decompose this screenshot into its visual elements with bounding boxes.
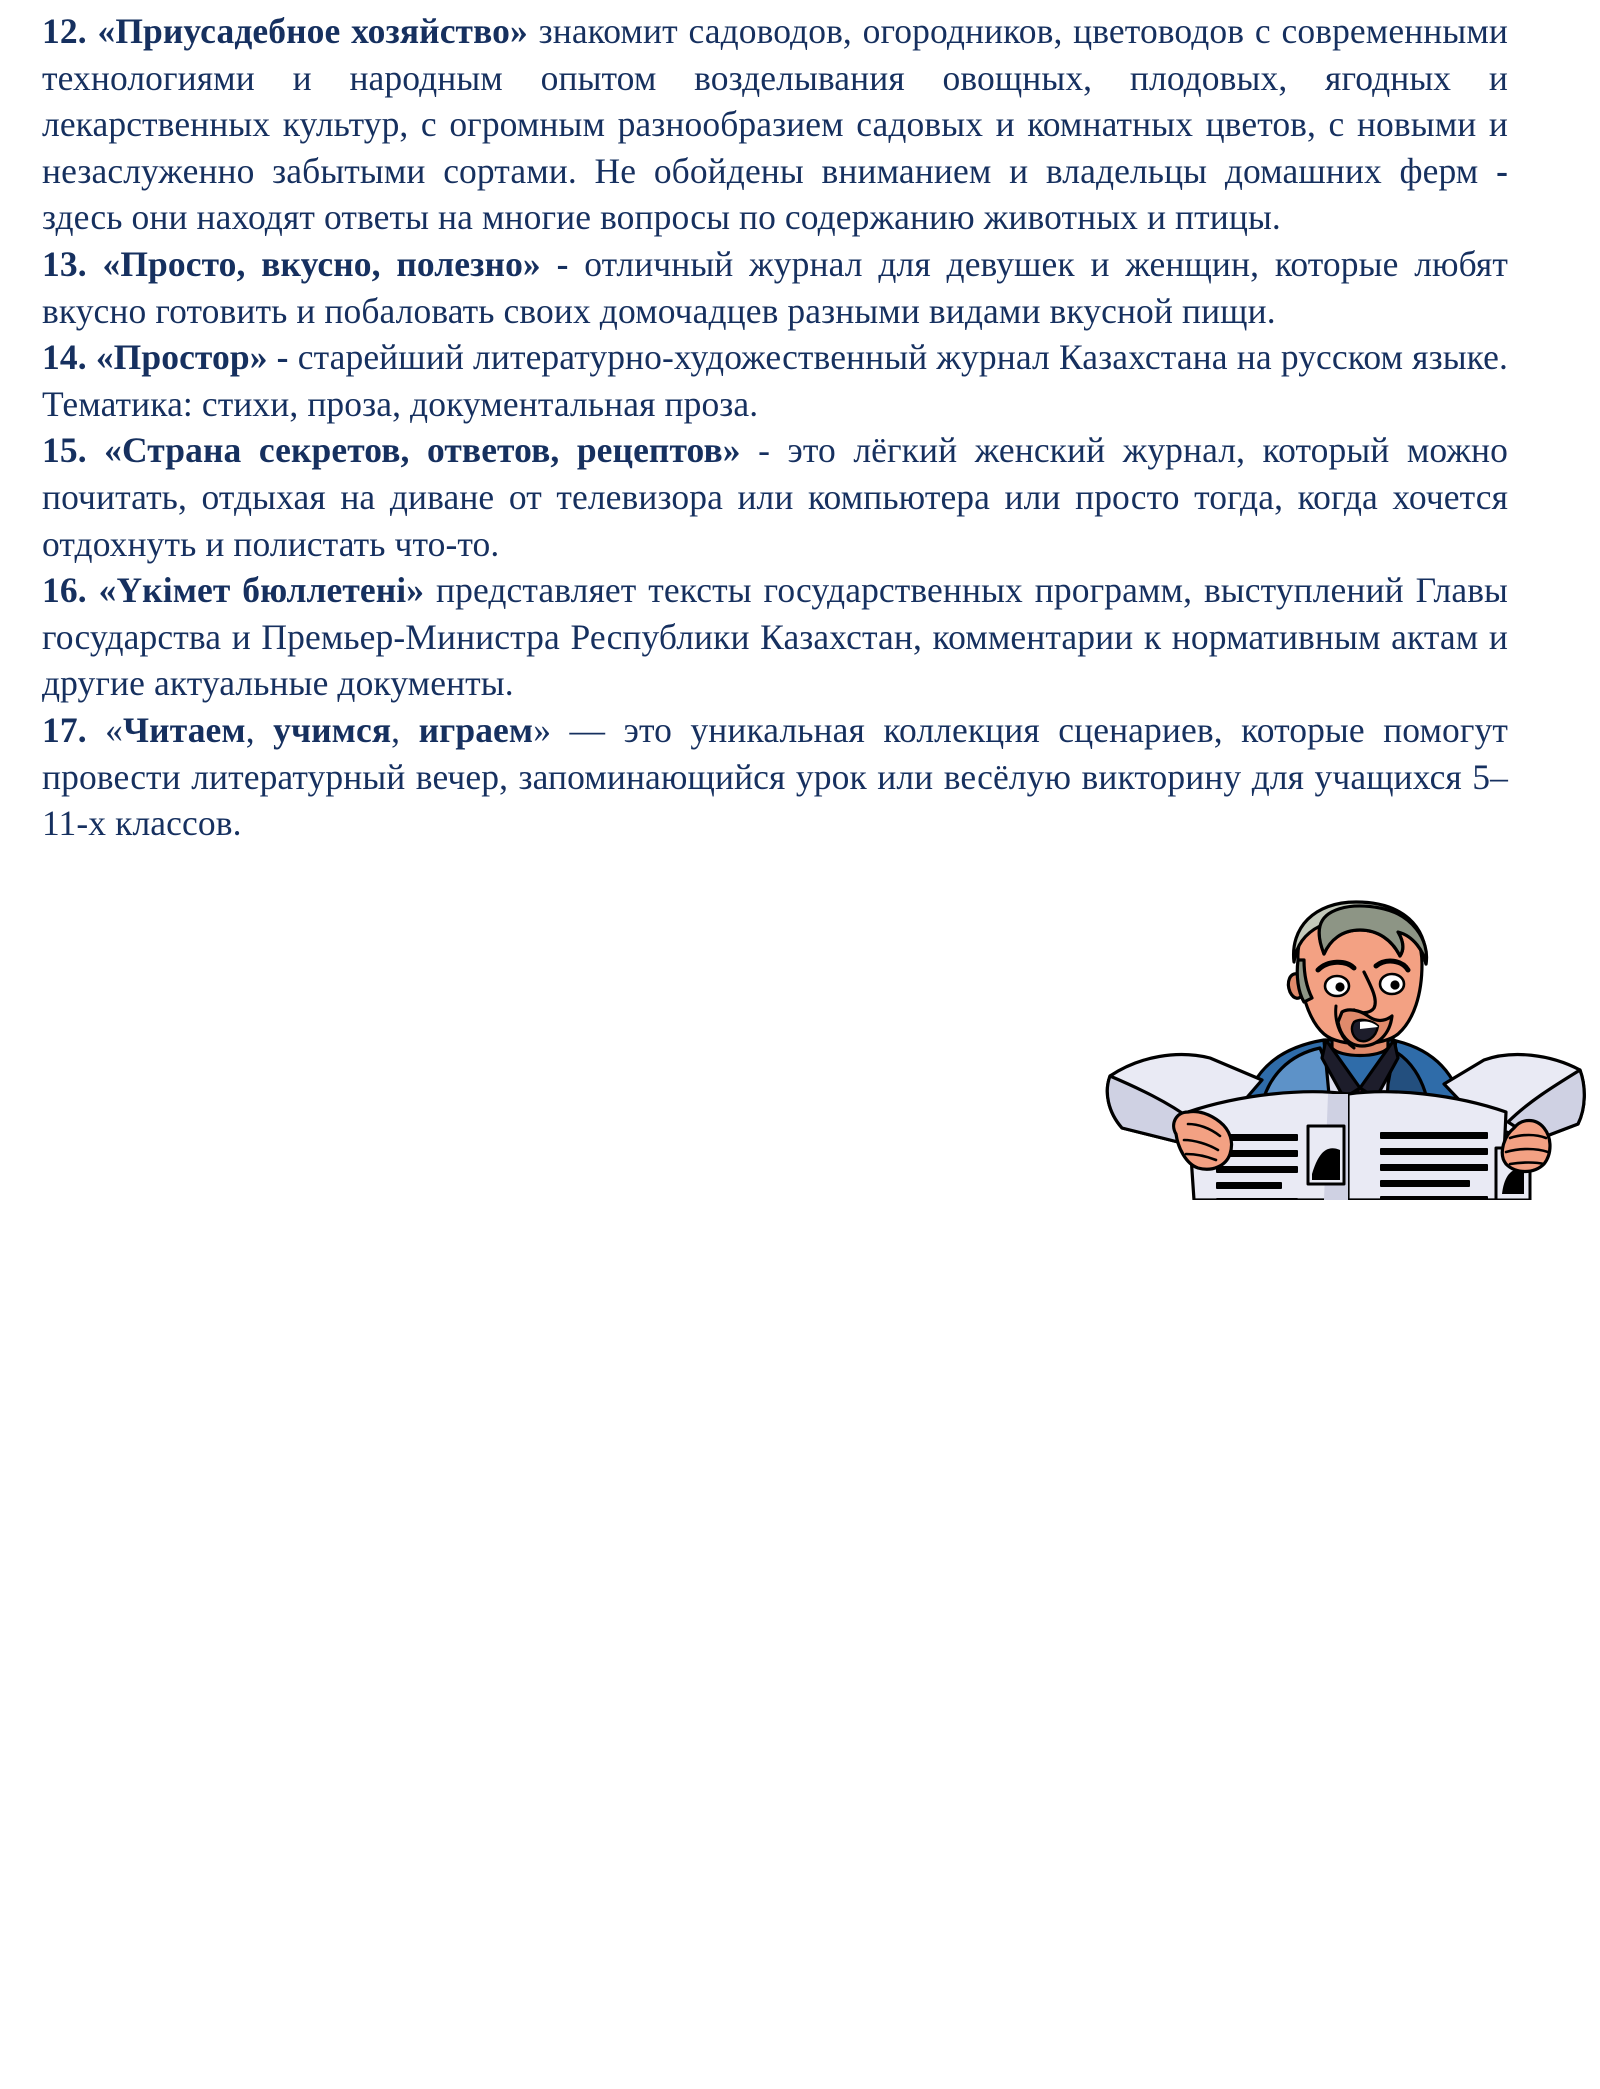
entry-number: 15. [42,430,87,470]
eye-right [1380,974,1404,994]
teeth [1360,1021,1378,1029]
entry-number: 12. [42,11,87,51]
entry-title-segment: учимся [273,710,391,750]
hand-right [1502,1121,1550,1172]
hand-left [1174,1111,1232,1169]
finger-line-right-3 [1510,1163,1544,1165]
list-item: 14. «Простор» - старейший литературно-ху… [42,334,1508,427]
entry-title: «Страна секретов, ответов, рецептов» [104,430,740,470]
pupil-left [1335,982,1344,991]
suit-lapel-left [1260,1048,1338,1150]
collar-right [1360,1040,1398,1098]
list-item: 17. «Читаем, учимся, играем» — это уника… [42,707,1508,847]
entry-title-segment: играем [419,710,534,750]
entry-number: 16. [42,570,87,610]
entry-title: «Приусадебное хозяйство» [97,11,527,51]
entry-title: «Просто, вкусно, полезно» [102,244,540,284]
ear [1288,974,1302,999]
face [1298,906,1422,1044]
suit-jacket [1244,1040,1464,1200]
entry-title-segment: Читаем [123,710,246,750]
newspaper-photo-left [1308,1126,1344,1184]
finger-line-left-3 [1186,1154,1216,1160]
mouth-area [1338,1010,1392,1046]
finger-line-left-2 [1184,1140,1218,1150]
entry-number: 13. [42,244,87,284]
entry-title-segment: » [533,710,551,750]
entry-separator: - [277,337,289,377]
eyebrow-left [1318,962,1354,970]
entry-title: «Читаем, учимся, играем» [105,710,551,750]
slide-canvas: 12. «Приусадебное хозяйство» знакомит са… [0,0,1600,1200]
finger-line-right-1 [1510,1135,1546,1138]
entry-separator: - [557,244,569,284]
necktie [1348,1088,1374,1156]
dress-shirt [1324,1041,1396,1148]
entry-title-parts: «Читаем, учимся, играем» [105,710,551,750]
eyebrow-right [1376,961,1408,970]
entry-title: «Үкімет бюллетені» [99,570,425,610]
list-item: 13. «Просто, вкусно, полезно» - отличный… [42,241,1508,334]
entry-title: «Простор» [96,337,268,377]
entry-number: 14. [42,337,87,377]
finger-line-right-2 [1506,1149,1548,1152]
newspaper-text-lines-right [1380,1132,1488,1200]
smile-crease [1336,1006,1354,1048]
entry-body-tail: здесь они находят ответы на многие вопро… [42,197,1281,237]
entry-mid-separator: - [1496,151,1508,191]
list-item: 12. «Приусадебное хозяйство» знакомит са… [42,8,1508,241]
entry-title-segment: , [246,710,273,750]
hair [1294,902,1427,964]
newspaper-sheet-left [1188,1092,1348,1200]
list-item: 15. «Страна секретов, ответов, рецептов»… [42,427,1508,567]
pupil-right [1390,980,1399,989]
newspaper-center-fold [1324,1094,1348,1200]
collar-left [1322,1040,1360,1098]
newspaper-sheet-right [1348,1092,1506,1200]
man-reading-newspaper-illustration: CoolClips.com [1092,898,1598,1200]
entry-separator: — [570,710,606,750]
nose [1354,972,1375,1013]
newspaper-folded-page-right [1444,1055,1584,1140]
newspaper-folded-page [1107,1055,1262,1142]
newspaper-photo-right [1496,1148,1530,1200]
list-item: 16. «Үкімет бюллетені» представляет текс… [42,567,1508,707]
entry-number: 17. [42,710,87,750]
sideburn [1297,960,1312,1002]
newspaper-fold-shade-right [1508,1070,1584,1140]
entry-separator: - [758,430,770,470]
entry-title-segment: « [105,710,123,750]
eye-left [1325,976,1349,996]
finger-line-left-1 [1188,1124,1220,1136]
newspaper-text-lines-left [1216,1134,1298,1200]
newspaper-fold-shade [1107,1076,1192,1142]
suit-lapel-right [1368,1048,1438,1148]
neck [1332,1010,1388,1056]
hair-shadow [1319,906,1426,964]
open-mouth [1352,1020,1378,1041]
entry-title-segment: , [391,710,418,750]
magazine-list-text: 12. «Приусадебное хозяйство» знакомит са… [42,8,1508,847]
